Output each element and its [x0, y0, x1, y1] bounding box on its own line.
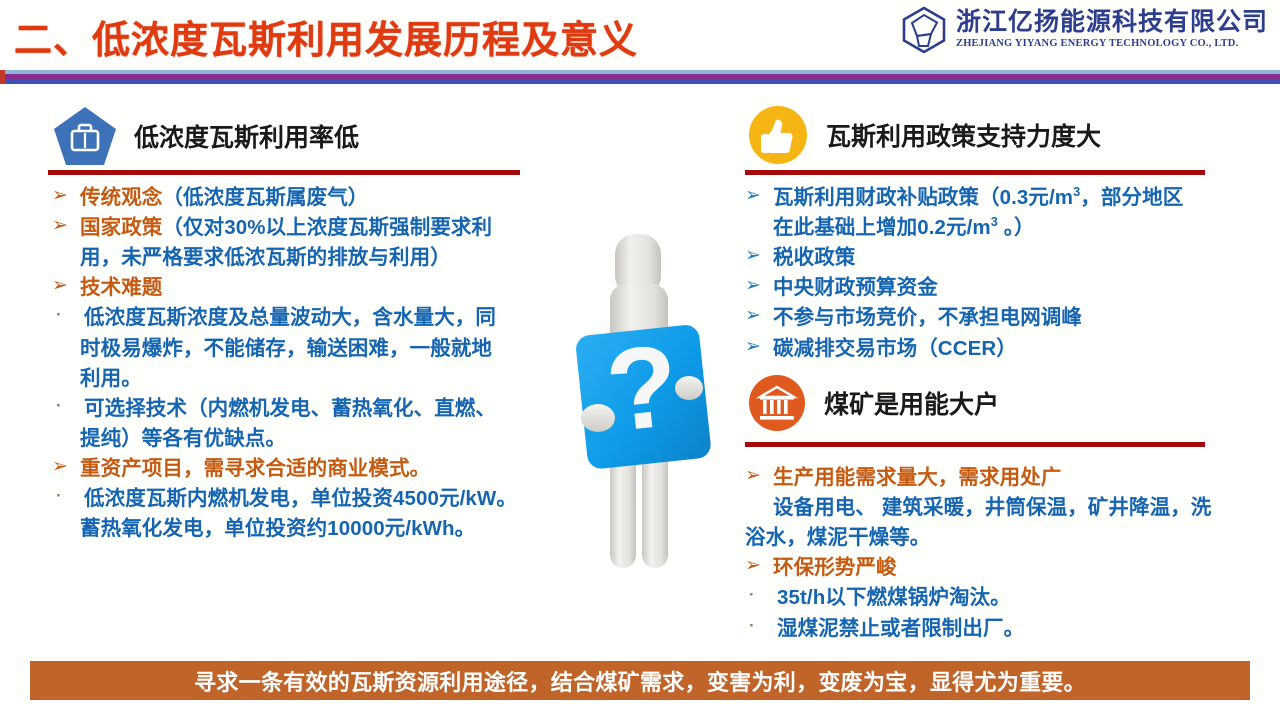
right-section1-header: 瓦斯利用政策支持力度大 [748, 105, 1101, 165]
text-segment: 技术难题 [80, 276, 162, 299]
bullet-arrow-icon: ➢ [745, 463, 773, 490]
text-segment: 蓄热氧化发电，单位投资约10000元/kWh。 [80, 517, 475, 540]
bullet-row: ➢碳减排交易市场（CCER） [745, 334, 1255, 363]
text-segment: 时极易爆炸，不能储存，输送困难，一般就地 [80, 337, 492, 360]
header-divider [0, 70, 1280, 84]
text-segment: 在此基础上增加0.2元/m [773, 216, 991, 239]
right-section1-title: 瓦斯利用政策支持力度大 [826, 117, 1101, 153]
bullet-row: ➢重资产项目，需寻求合适的商业模式。 [52, 454, 558, 483]
text-segment: 低浓度瓦斯内燃机发电，单位投资4500元/kW。 [84, 487, 517, 510]
text-segment: 提纯）等各有优缺点。 [80, 427, 286, 450]
bullet-row: ➢环保形势严峻 [745, 553, 1255, 582]
bullet-dot-icon: · [52, 394, 84, 418]
bullet-row: 在此基础上增加0.2元/m3 。） [745, 213, 1255, 242]
thumbs-up-icon [748, 105, 808, 165]
svg-text:?: ? [600, 320, 684, 457]
text-segment: 碳减排交易市场（CCER） [773, 337, 1017, 360]
slide-canvas: 二、低浓度瓦斯利用发展历程及意义 浙江亿扬能源科技有限公司 ZHEJIANG Y… [0, 0, 1280, 720]
bullet-text: 利用。 [80, 364, 142, 393]
bullet-row: ·35t/h以下燃煤锅炉淘汰。 [745, 583, 1255, 612]
footer-banner: 寻求一条有效的瓦斯资源利用途径，结合煤矿需求，变害为利，变废为宝，显得尤为重要。 [30, 661, 1250, 700]
text-segment: 重资产项目，需寻求合适的商业模式。 [80, 457, 430, 480]
bullet-arrow-icon: ➢ [745, 273, 773, 300]
bullet-row: ·低浓度瓦斯浓度及总量波动大，含水量大，同 [52, 303, 558, 332]
bullet-row: 蓄热氧化发电，单位投资约10000元/kWh。 [52, 514, 558, 543]
bullet-text: 传统观念（低浓度瓦斯属废气） [80, 183, 368, 212]
right-section1-rule [745, 170, 1205, 175]
text-segment: 国家政策 [80, 216, 162, 239]
bullet-arrow-icon: ➢ [52, 454, 80, 481]
bullet-text: 用，未严格要求低浓瓦斯的排放与利用） [80, 243, 451, 272]
person-holding-question-sign-figure: ? [556, 228, 728, 576]
bullet-row: 浴水，煤泥干燥等。 [745, 523, 1255, 552]
bullet-arrow-icon: ➢ [52, 183, 80, 210]
right-section2-bullet-list: ➢ 生产用能需求量大，需求用处广 设备用电、 建筑采暖，井筒保温，矿井降温，洗浴… [745, 463, 1255, 644]
bullet-text: 提纯）等各有优缺点。 [80, 424, 286, 453]
bullet-dot-icon: · [745, 614, 777, 638]
bullet-arrow-icon: ➢ [745, 183, 773, 210]
text-segment: 生产用能需求量大，需求用处广 [773, 466, 1061, 489]
text-segment: 税收政策 [773, 246, 855, 269]
text-segment: 环保形势严峻 [773, 556, 897, 579]
company-name-cn: 浙江亿扬能源科技有限公司 [956, 10, 1268, 35]
bullet-text: 瓦斯利用财政补贴政策（0.3元/m3，部分地区 [773, 183, 1183, 212]
text-segment: 低浓度瓦斯浓度及总量波动大，含水量大，同 [84, 306, 496, 329]
bullet-arrow-icon: ➢ [52, 273, 80, 300]
bullet-text: 生产用能需求量大，需求用处广 [773, 463, 1061, 492]
company-name-en: ZHEJIANG YIYANG ENERGY TECHNOLOGY CO., L… [956, 39, 1268, 50]
bullet-arrow-icon: ➢ [745, 553, 773, 580]
bullet-row: 利用。 [52, 364, 558, 393]
superscript-text: 3 [991, 214, 998, 229]
bullet-row: ➢国家政策（仅对30%以上浓度瓦斯强制要求利 [52, 213, 558, 242]
right-section2-title: 煤矿是用能大户 [824, 385, 999, 421]
bullet-dot-icon: · [52, 303, 84, 327]
bullet-row: ➢传统观念（低浓度瓦斯属废气） [52, 183, 558, 212]
bullet-text: 税收政策 [773, 243, 855, 272]
bullet-row: ➢瓦斯利用财政补贴政策（0.3元/m3，部分地区 [745, 183, 1255, 212]
text-segment: 用，未严格要求低浓瓦斯的排放与利用） [80, 246, 451, 269]
bullet-row: ➢ 生产用能需求量大，需求用处广 [745, 463, 1255, 492]
company-logo: 浙江亿扬能源科技有限公司 ZHEJIANG YIYANG ENERGY TECH… [901, 6, 1268, 54]
text-segment: 传统观念 [80, 186, 162, 209]
bullet-row: ➢中央财政预算资金 [745, 273, 1255, 302]
bullet-text: 时极易爆炸，不能储存，输送困难，一般就地 [80, 334, 492, 363]
text-segment: （仅对30%以上浓度瓦斯强制要求利 [162, 216, 492, 239]
bullet-text: 环保形势严峻 [773, 553, 897, 582]
bullet-dot-icon: · [745, 583, 777, 607]
bullet-arrow-icon: ➢ [745, 243, 773, 270]
right-section2-header: 煤矿是用能大户 [748, 374, 999, 432]
bullet-text: 低浓度瓦斯浓度及总量波动大，含水量大，同 [84, 303, 496, 332]
text-segment: 湿煤泥禁止或者限制出厂。 [777, 617, 1024, 640]
bullet-text: 技术难题 [80, 273, 162, 302]
bullet-text: 设备用电、 建筑采暖，井筒保温，矿井降温，洗 [773, 493, 1211, 522]
bullet-row: 提纯）等各有优缺点。 [52, 424, 558, 453]
bullet-row: 设备用电、 建筑采暖，井筒保温，矿井降温，洗 [745, 493, 1255, 522]
text-segment: （低浓度瓦斯属废气） [162, 186, 368, 209]
text-segment: 35t/h以下燃煤锅炉淘汰。 [777, 586, 1011, 609]
bullet-text: 国家政策（仅对30%以上浓度瓦斯强制要求利 [80, 213, 492, 242]
bullet-dot-icon: · [52, 484, 84, 508]
briefcase-pentagon-icon [52, 105, 118, 167]
footer-banner-text: 寻求一条有效的瓦斯资源利用途径，结合煤矿需求，变害为利，变废为宝，显得尤为重要。 [194, 665, 1086, 697]
bullet-text: 碳减排交易市场（CCER） [773, 334, 1017, 363]
bullet-arrow-icon: ➢ [745, 303, 773, 330]
text-segment: 设备用电、 建筑采暖，井筒保温，矿井降温，洗 [773, 496, 1211, 519]
text-segment: 不参与市场竞价，不承担电网调峰 [773, 306, 1082, 329]
bank-building-icon [748, 374, 806, 432]
bullet-text: 35t/h以下燃煤锅炉淘汰。 [777, 583, 1011, 612]
bullet-row: 时极易爆炸，不能储存，输送困难，一般就地 [52, 334, 558, 363]
text-segment: 利用。 [80, 367, 142, 390]
bullet-row: ➢技术难题 [52, 273, 558, 302]
right-section1-bullet-list: ➢瓦斯利用财政补贴政策（0.3元/m3，部分地区在此基础上增加0.2元/m3 。… [745, 183, 1255, 364]
page-title: 二、低浓度瓦斯利用发展历程及意义 [14, 9, 638, 64]
text-segment: 。） [998, 216, 1035, 239]
text-segment: 浴水，煤泥干燥等。 [745, 526, 930, 549]
bullet-text: 低浓度瓦斯内燃机发电，单位投资4500元/kW。 [84, 484, 517, 513]
left-bullet-list: ➢传统观念（低浓度瓦斯属废气）➢国家政策（仅对30%以上浓度瓦斯强制要求利用，未… [52, 183, 558, 544]
bullet-row: 用，未严格要求低浓瓦斯的排放与利用） [52, 243, 558, 272]
left-section-rule [48, 170, 520, 175]
bullet-text: 重资产项目，需寻求合适的商业模式。 [80, 454, 430, 483]
left-section-header: 低浓度瓦斯利用率低 [52, 105, 359, 167]
right-section2-rule [745, 442, 1205, 447]
bullet-row: ·可选择技术（内燃机发电、蓄热氧化、直燃、 [52, 394, 558, 423]
bullet-arrow-icon: ➢ [745, 334, 773, 361]
bullet-text: 浴水，煤泥干燥等。 [745, 523, 930, 552]
bullet-text: 不参与市场竞价，不承担电网调峰 [773, 303, 1082, 332]
text-segment: 瓦斯利用财政补贴政策（0.3元/m [773, 186, 1073, 209]
bullet-text: 中央财政预算资金 [773, 273, 938, 302]
bullet-text: 可选择技术（内燃机发电、蓄热氧化、直燃、 [84, 394, 496, 423]
text-segment: 中央财政预算资金 [773, 276, 938, 299]
text-segment: 可选择技术（内燃机发电、蓄热氧化、直燃、 [84, 397, 496, 420]
bullet-arrow-icon: ➢ [52, 213, 80, 240]
bullet-text: 湿煤泥禁止或者限制出厂。 [777, 614, 1024, 643]
left-section-title: 低浓度瓦斯利用率低 [134, 118, 359, 154]
text-segment: ，部分地区 [1080, 186, 1183, 209]
bullet-row: ➢税收政策 [745, 243, 1255, 272]
bullet-row: ·湿煤泥禁止或者限制出厂。 [745, 614, 1255, 643]
hexagon-logo-icon [901, 6, 947, 54]
bullet-text: 在此基础上增加0.2元/m3 。） [773, 213, 1035, 242]
bullet-row: ➢不参与市场竞价，不承担电网调峰 [745, 303, 1255, 332]
bullet-text: 蓄热氧化发电，单位投资约10000元/kWh。 [80, 514, 475, 543]
bullet-row: ·低浓度瓦斯内燃机发电，单位投资4500元/kW。 [52, 484, 558, 513]
slide-header: 二、低浓度瓦斯利用发展历程及意义 浙江亿扬能源科技有限公司 ZHEJIANG Y… [0, 0, 1280, 88]
